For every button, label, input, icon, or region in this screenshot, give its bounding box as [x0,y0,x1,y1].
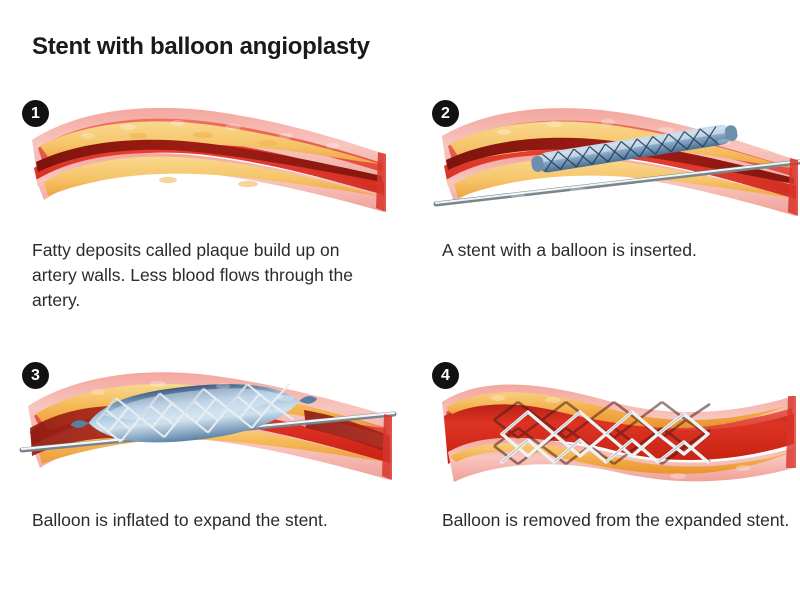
illustration-page: Stent with balloon angioplasty 1 [0,0,800,600]
panel-caption-1: Fatty deposits called plaque build up on… [32,238,382,313]
panel-step-1: 1 [18,96,398,346]
artery-with-inflated-balloon-illustration [18,358,398,493]
panel-caption-4: Balloon is removed from the expanded ste… [442,508,792,533]
step-number-badge-1: 1 [22,100,49,127]
step-number-badge-4: 4 [432,362,459,389]
page-title: Stent with balloon angioplasty [32,33,370,61]
panel-step-2: 2 [428,96,800,346]
artery-with-expanded-stent-illustration [428,358,800,493]
panel-caption-3: Balloon is inflated to expand the stent. [32,508,382,533]
artery-with-plaque-illustration [18,96,398,231]
step-number-badge-2: 2 [432,100,459,127]
panel-step-4: 4 [428,358,800,608]
artery-with-collapsed-stent-illustration [428,96,800,231]
step-number-badge-3: 3 [22,362,49,389]
panel-caption-2: A stent with a balloon is inserted. [442,238,792,263]
panel-step-3: 3 [18,358,398,608]
